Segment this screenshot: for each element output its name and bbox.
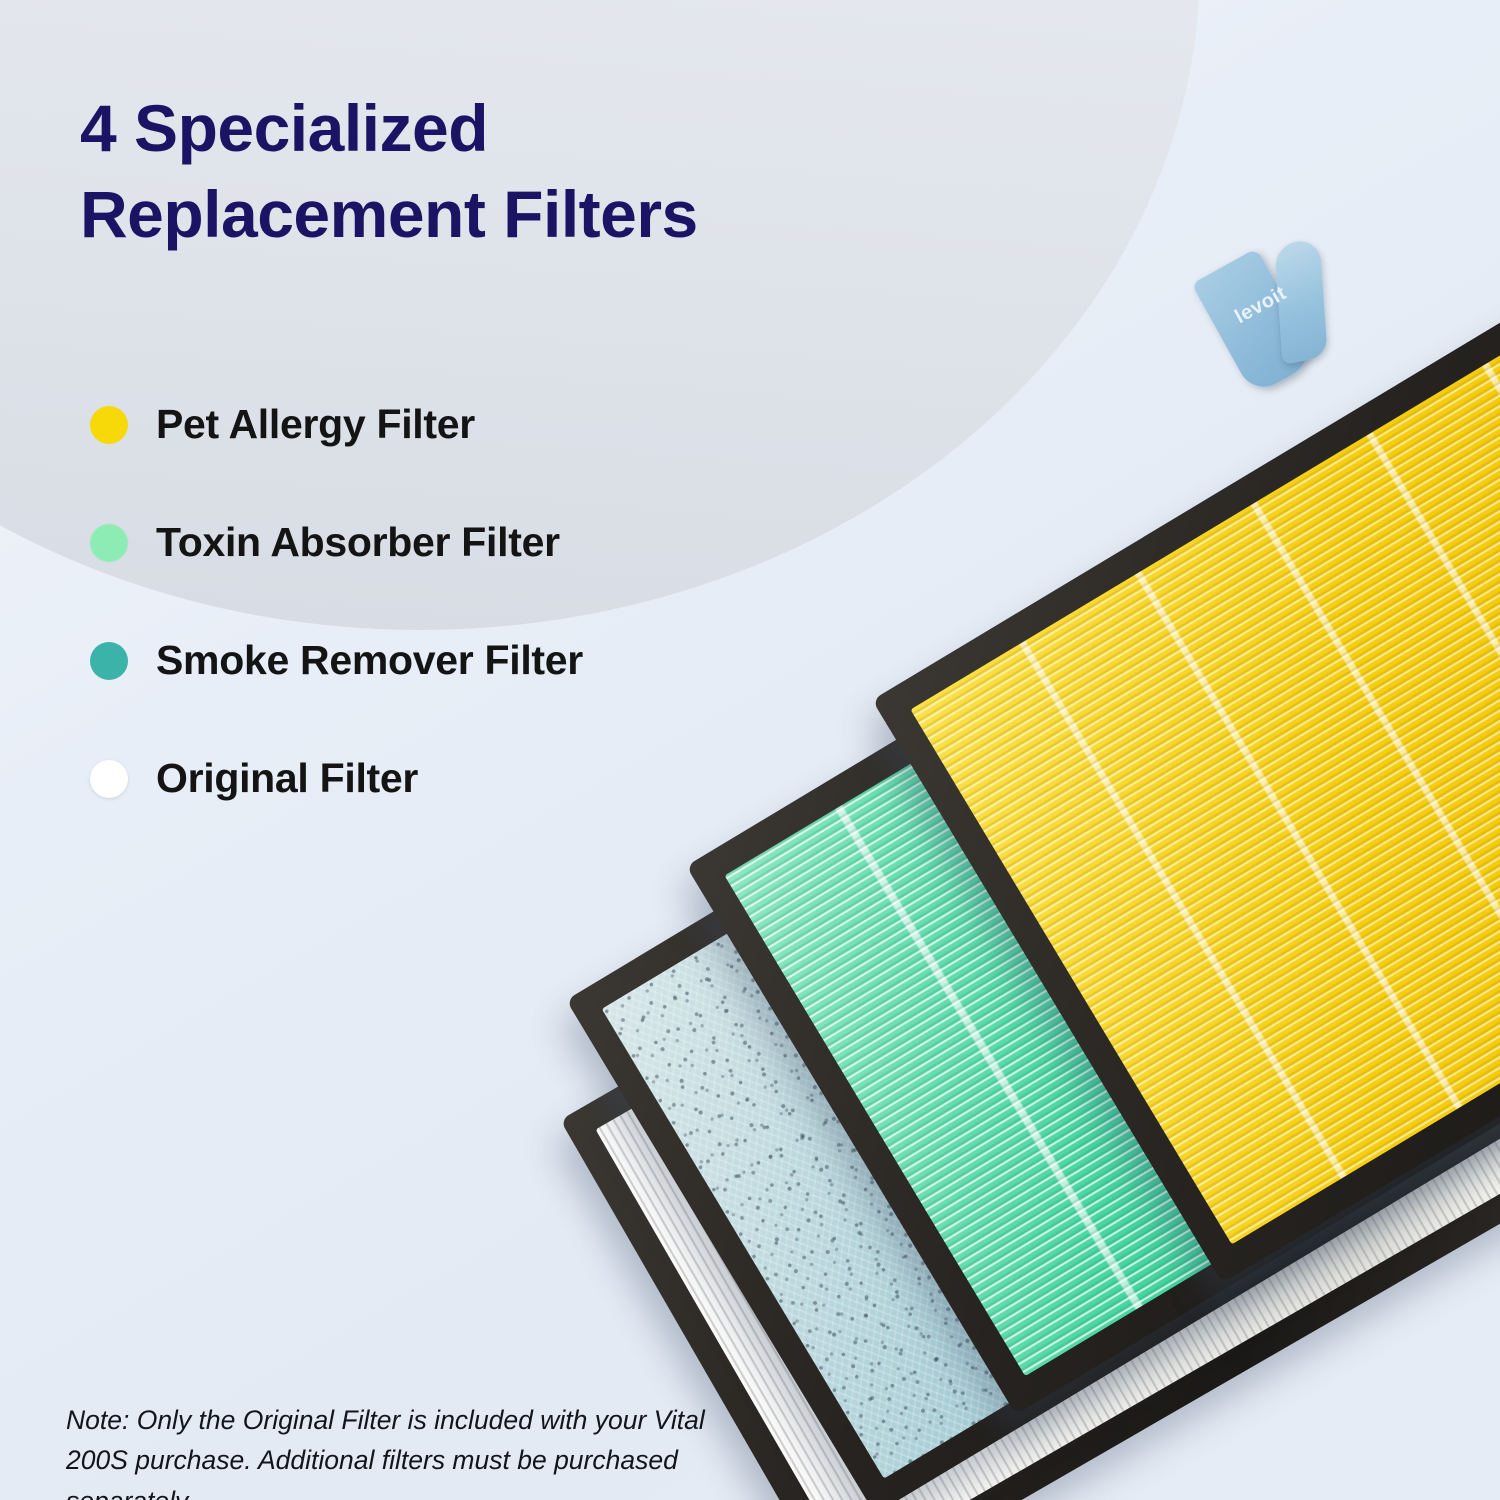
legend-label-smoke-remover: Smoke Remover Filter: [156, 634, 583, 686]
page-title: 4 Specialized Replacement Filters: [80, 86, 860, 258]
bullet-dot-mint: [90, 524, 128, 562]
filter-legend-list: Pet Allergy Filter Toxin Absorber Filter…: [82, 398, 802, 870]
legend-label-original: Original Filter: [156, 752, 418, 804]
bullet-dot-teal: [90, 642, 128, 680]
legend-item-pet-allergy: Pet Allergy Filter: [82, 398, 802, 516]
legend-item-original: Original Filter: [82, 752, 802, 870]
legend-label-pet-allergy: Pet Allergy Filter: [156, 398, 475, 450]
bullet-dot-yellow: [90, 406, 128, 444]
legend-item-smoke-remover: Smoke Remover Filter: [82, 634, 802, 752]
bullet-dot-white: [90, 760, 128, 798]
legend-label-toxin-absorber: Toxin Absorber Filter: [156, 516, 560, 568]
legend-item-toxin-absorber: Toxin Absorber Filter: [82, 516, 802, 634]
levoit-pull-tab: levoit: [1218, 258, 1368, 398]
disclaimer-note: Note: Only the Original Filter is includ…: [66, 1400, 766, 1500]
product-feature-image: levoit 4 Specialized Replacement Filters…: [0, 0, 1500, 1500]
